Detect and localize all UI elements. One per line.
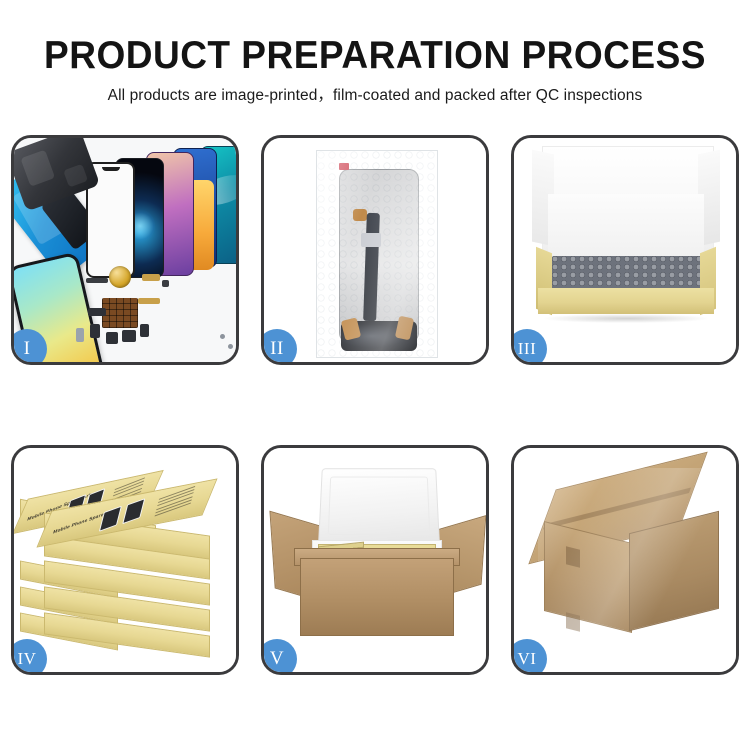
carton-tape-lower bbox=[566, 612, 580, 631]
box-front-panel bbox=[538, 288, 714, 314]
camera-part bbox=[122, 330, 136, 342]
gold-coil-part bbox=[109, 266, 131, 288]
sealed-carton-right-face bbox=[629, 511, 719, 631]
button-part bbox=[106, 332, 118, 344]
step-image-4: Mobile Phone Spare Parts Mobile Phone Sp… bbox=[14, 448, 236, 672]
step-panel-6[interactable]: VI bbox=[511, 445, 739, 675]
grey-bubble-wrap-layer bbox=[552, 256, 704, 292]
red-label-tab bbox=[339, 163, 349, 170]
step-panel-1[interactable]: I bbox=[11, 135, 239, 365]
step-panel-4[interactable]: Mobile Phone Spare Parts Mobile Phone Sp… bbox=[11, 445, 239, 675]
page-subtitle: All products are image-printed，film-coat… bbox=[0, 78, 750, 106]
flex-connector bbox=[361, 233, 381, 247]
lid-screen-icon-front-b bbox=[122, 498, 145, 524]
speaker-part bbox=[140, 324, 149, 337]
step-image-3: III bbox=[514, 138, 736, 362]
carton-body bbox=[300, 558, 454, 636]
step-badge-5: V bbox=[264, 639, 297, 672]
page-title: PRODUCT PREPARATION PROCESS bbox=[19, 0, 732, 78]
step-image-2: II bbox=[264, 138, 486, 362]
box-drop-shadow bbox=[544, 314, 708, 323]
lid-screen-icon-front-a bbox=[99, 506, 122, 532]
step-badge-2: II bbox=[264, 329, 297, 362]
screw-part-b bbox=[220, 334, 225, 339]
lid-spec-lines-front bbox=[154, 486, 195, 519]
step-badge-6: VI bbox=[514, 639, 547, 672]
battery-connector-part bbox=[76, 328, 84, 342]
screw-part-c bbox=[228, 344, 233, 349]
step-panel-2[interactable]: II bbox=[261, 135, 489, 365]
step-image-5: V bbox=[264, 448, 486, 672]
step-panel-5[interactable]: V bbox=[261, 445, 489, 675]
copper-contact-top bbox=[353, 209, 367, 221]
step-image-6: VI bbox=[514, 448, 736, 672]
ribbon-cable-a bbox=[142, 274, 160, 281]
process-steps-grid: I II bbox=[11, 135, 739, 675]
connector-part-b bbox=[90, 324, 100, 338]
step-panel-3[interactable]: III bbox=[511, 135, 739, 365]
step-badge-3: III bbox=[514, 329, 547, 362]
header-block: PRODUCT PREPARATION PROCESS All products… bbox=[0, 0, 750, 106]
small-part-bar bbox=[86, 278, 108, 283]
bubble-wrap-bag bbox=[316, 150, 438, 358]
ribbon-cable-b bbox=[138, 298, 160, 304]
screw-part-a bbox=[162, 280, 169, 287]
white-foam-sheet bbox=[548, 194, 704, 262]
carton-tape-upper bbox=[566, 546, 580, 567]
chip-grid-part bbox=[102, 298, 138, 328]
foam-lid-open bbox=[318, 468, 440, 544]
box-stack: Mobile Phone Spare Parts Mobile Phone Sp… bbox=[14, 448, 236, 672]
connector-part-a bbox=[88, 308, 106, 316]
step-image-1: I bbox=[14, 138, 236, 362]
